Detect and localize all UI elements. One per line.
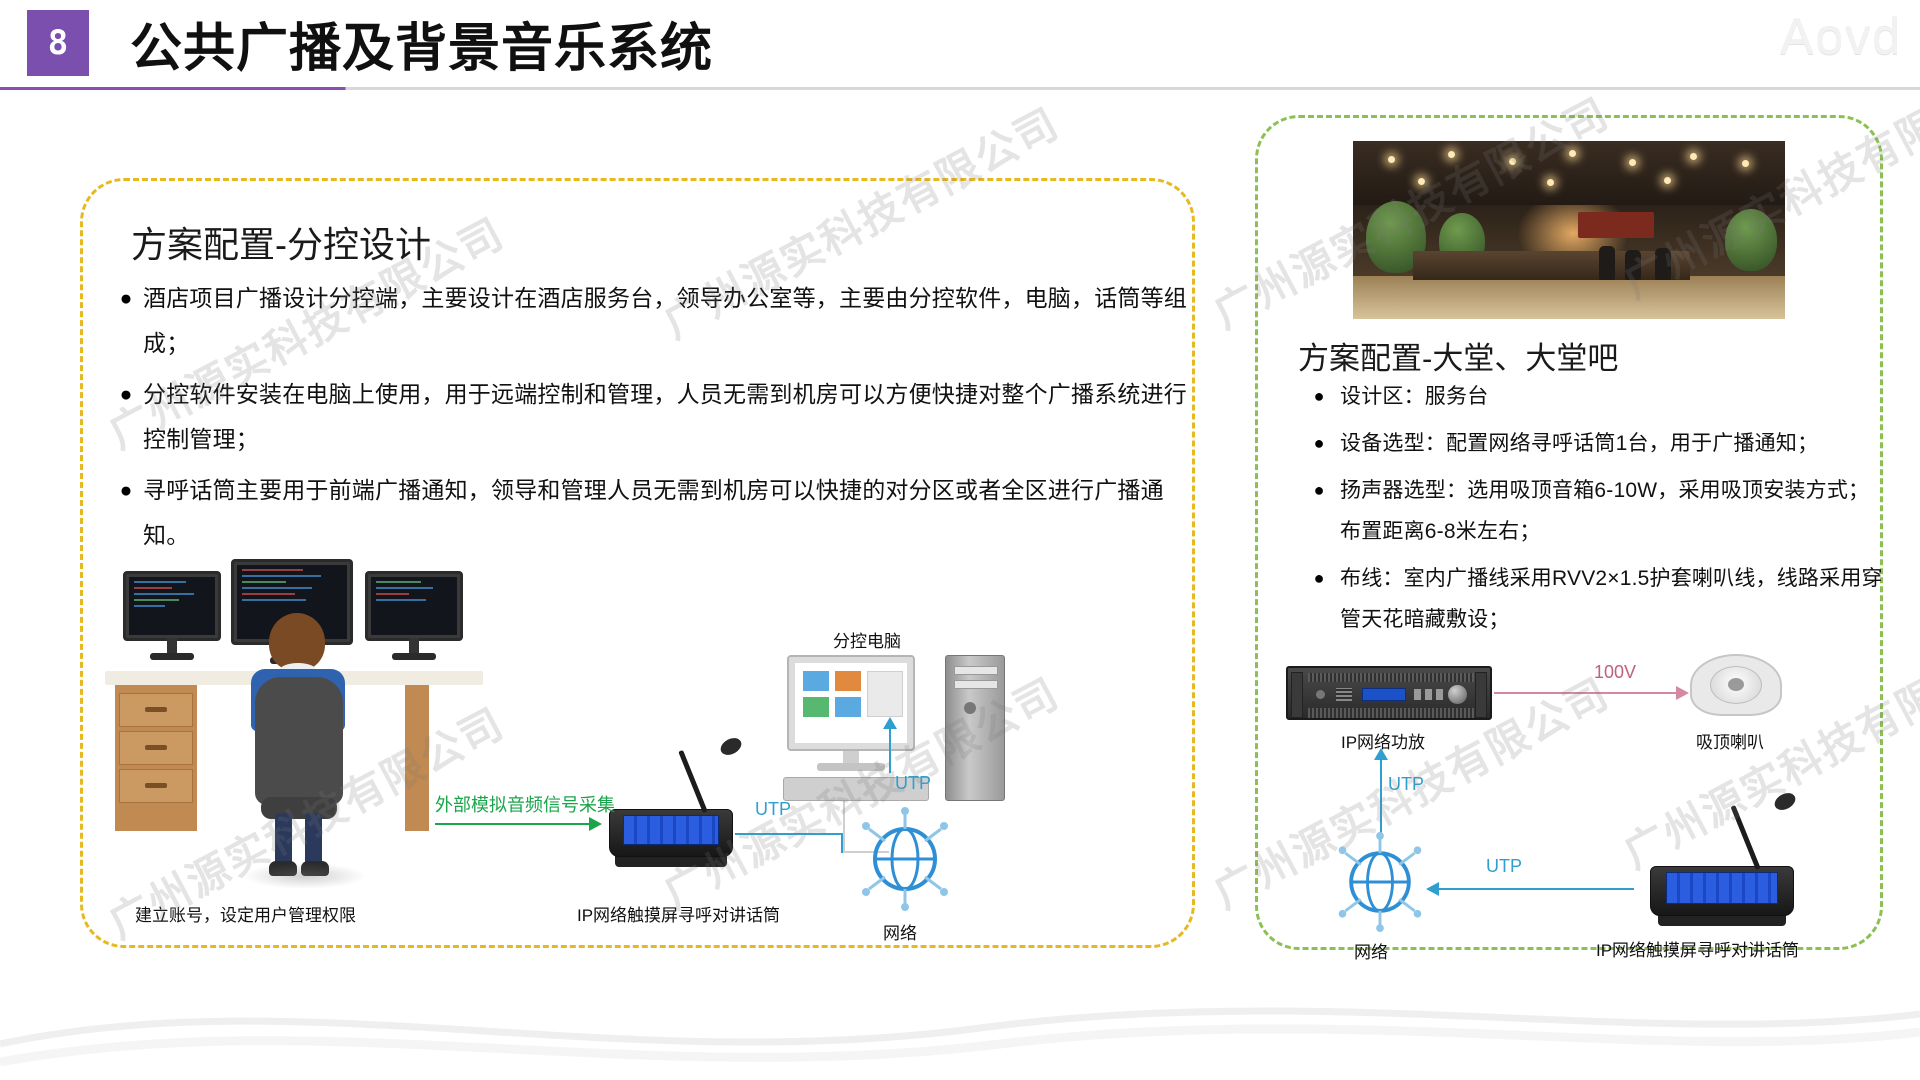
mic-gooseneck xyxy=(1731,805,1761,870)
amp-volume-knob xyxy=(1448,685,1467,704)
list-item-text: 扬声器选型：选用吸顶音箱6-10W，采用吸顶安装方式；布置距离6-8米左右； xyxy=(1340,470,1883,552)
office-chair-seat xyxy=(261,797,337,819)
footer-swoosh-decoration xyxy=(0,970,1920,1080)
list-item: ● 寻呼话筒主要用于前端广播通知，领导和管理人员无需到机房可以快捷的对分区或者全… xyxy=(109,468,1189,558)
header-divider xyxy=(0,87,1920,90)
office-chair-back xyxy=(255,677,343,805)
network-caption: 网络 xyxy=(883,919,917,944)
monitor-stand xyxy=(409,638,419,654)
list-item-text: 设计区：服务台 xyxy=(1340,376,1488,417)
desk-drawer-handle xyxy=(145,783,167,788)
person-leg xyxy=(275,813,292,865)
list-item: ● 酒店项目广播设计分控端，主要设计在酒店服务台，领导办公室等，主要由分控软件，… xyxy=(109,276,1189,366)
list-item: ● 分控软件安装在电脑上使用，用于远端控制和管理，人员无需到机房可以方便快捷对整… xyxy=(109,372,1189,462)
utp-label-mic: UTP xyxy=(755,799,791,820)
amp-vent-grill xyxy=(1308,708,1474,718)
lobby-photo xyxy=(1353,141,1785,319)
monitor-base xyxy=(150,653,194,660)
slide-number-badge: 8 xyxy=(27,10,89,76)
lobby-plant xyxy=(1725,209,1777,271)
mic-caption: IP网络触摸屏寻呼对讲话筒 xyxy=(577,901,780,926)
bullet-dot-icon: ● xyxy=(109,276,143,321)
desk-drawer-handle xyxy=(145,745,167,750)
lobby-person xyxy=(1625,250,1641,280)
monitor-left xyxy=(123,571,221,641)
monitor-stand xyxy=(167,638,177,654)
left-panel-bullet-list: ● 酒店项目广播设计分控端，主要设计在酒店服务台，领导办公室等，主要由分控软件，… xyxy=(109,276,1189,564)
left-panel: 方案配置-分控设计 ● 酒店项目广播设计分控端，主要设计在酒店服务台，领导办公室… xyxy=(80,178,1195,948)
slide-number-text: 8 xyxy=(48,23,68,63)
amp-rack-ear xyxy=(1291,672,1303,718)
monitor-base xyxy=(392,653,436,660)
desk-drawer-handle xyxy=(145,707,167,712)
lobby-person xyxy=(1599,246,1615,280)
ceiling-speaker-dome xyxy=(1728,678,1744,691)
slide-root: 8 公共广播及背景音乐系统 Aovd 方案配置-分控设计 ● 酒店项目广播设计分… xyxy=(0,0,1920,1080)
left-diagram: 建立账号，设定用户管理权限 IP网络触摸屏寻呼对讲话筒 外部模拟音频信号采集 分… xyxy=(83,551,1192,951)
bullet-dot-icon: ● xyxy=(1298,423,1340,464)
workstation-caption: 建立账号，设定用户管理权限 xyxy=(135,901,356,926)
list-item: ● 扬声器选型：选用吸顶音箱6-10W，采用吸顶安装方式；布置距离6-8米左右； xyxy=(1298,470,1883,552)
mic-gooseneck xyxy=(678,750,707,813)
desk-right-leg xyxy=(405,685,429,831)
mic-capsule-icon xyxy=(718,735,744,759)
voltage-label: 100V xyxy=(1594,662,1636,683)
network-globe-icon xyxy=(1330,832,1430,932)
brand-logo: Aovd xyxy=(1780,8,1902,66)
left-panel-title: 方案配置-分控设计 xyxy=(131,216,431,268)
right-panel-title: 方案配置-大堂、大堂吧 xyxy=(1298,333,1618,378)
lobby-sign xyxy=(1578,212,1654,238)
utp-arrow-head-up xyxy=(883,717,897,729)
list-item-text: 酒店项目广播设计分控端，主要设计在酒店服务台，领导办公室等，主要由分控软件，电脑… xyxy=(143,276,1189,366)
page-title: 公共广播及背景音乐系统 xyxy=(130,6,713,81)
lobby-photo-art xyxy=(1353,141,1785,319)
lobby-ceiling xyxy=(1353,141,1785,205)
utp-label-mic-right: UTP xyxy=(1486,856,1522,877)
monitor-right xyxy=(365,571,463,641)
voltage-arrow-head xyxy=(1676,686,1689,700)
list-item: ● 布线：室内广播线采用RVV2×1.5护套喇叭线，线路采用穿管天花暗藏敷设； xyxy=(1298,558,1883,640)
ip-network-amplifier xyxy=(1286,666,1492,720)
list-item-text: 分控软件安装在电脑上使用，用于远端控制和管理，人员无需到机房可以方便快捷对整个广… xyxy=(143,372,1189,462)
mic-console-screen xyxy=(1666,872,1778,904)
mic-console-screen xyxy=(623,815,719,845)
utp-label-amp: UTP xyxy=(1388,774,1424,795)
bullet-dot-icon: ● xyxy=(109,468,143,513)
pc-tower xyxy=(945,655,1005,801)
mic-caption-right: IP网络触摸屏寻呼对讲话筒 xyxy=(1596,936,1799,961)
amp-vent-grill xyxy=(1308,673,1474,682)
utp-mic-line xyxy=(735,833,843,835)
amp-utp-arrow-head xyxy=(1374,748,1388,760)
amp-rack-ear xyxy=(1475,672,1487,718)
control-pc-caption: 分控电脑 xyxy=(833,627,901,652)
list-item-text: 寻呼话筒主要用于前端广播通知，领导和管理人员无需到机房可以快捷的对分区或者全区进… xyxy=(143,468,1189,558)
utp-riser-line xyxy=(841,833,843,853)
lobby-floor xyxy=(1353,276,1785,319)
list-item: ● 设备选型：配置网络寻呼话筒1台，用于广播通知； xyxy=(1298,423,1883,464)
network-globe-icon xyxy=(853,807,957,911)
voltage-arrow-line xyxy=(1494,692,1676,694)
mic-utp-line xyxy=(1438,888,1634,890)
monitor-screen xyxy=(129,577,215,635)
lobby-reception-counter xyxy=(1413,251,1689,279)
pc-to-utp-connector xyxy=(843,801,845,851)
bullet-dot-icon: ● xyxy=(1298,558,1340,599)
speaker-caption: 吸顶喇叭 xyxy=(1696,728,1764,753)
bullet-dot-icon: ● xyxy=(1298,470,1340,511)
right-panel-bullet-list: ● 设计区：服务台 ● 设备选型：配置网络寻呼话筒1台，用于广播通知； ● 扬声… xyxy=(1298,376,1883,646)
amp-display xyxy=(1362,688,1406,701)
utp-label-pc: UTP xyxy=(895,773,931,794)
mic-utp-arrow-head xyxy=(1426,882,1439,896)
audio-capture-arrow-line xyxy=(435,823,589,825)
list-item-text: 设备选型：配置网络寻呼话筒1台，用于广播通知； xyxy=(1340,423,1818,464)
bullet-dot-icon: ● xyxy=(109,372,143,417)
pc-drive-bay xyxy=(954,680,998,689)
network-caption: 网络 xyxy=(1354,938,1388,963)
list-item: ● 设计区：服务台 xyxy=(1298,376,1883,417)
pc-monitor-base xyxy=(817,763,885,771)
audio-capture-label: 外部模拟音频信号采集 xyxy=(435,791,615,817)
person-shadow xyxy=(243,863,367,889)
list-item-text: 布线：室内广播线采用RVV2×1.5护套喇叭线，线路采用穿管天花暗藏敷设； xyxy=(1340,558,1883,640)
right-diagram: IP网络功放 100V 吸顶喇叭 UTP xyxy=(1258,648,1884,948)
pc-monitor-frame xyxy=(787,655,915,751)
slide-header: 8 公共广播及背景音乐系统 Aovd xyxy=(0,0,1920,92)
mic-capsule-icon xyxy=(1772,790,1798,814)
utp-arrow-down xyxy=(889,727,891,773)
pc-drive-bay xyxy=(954,666,998,675)
right-panel: 方案配置-大堂、大堂吧 ● 设计区：服务台 ● 设备选型：配置网络寻呼话筒1台，… xyxy=(1255,115,1883,950)
amp-utp-line xyxy=(1380,758,1382,836)
lobby-person xyxy=(1655,248,1671,280)
audio-capture-arrow-head xyxy=(589,817,602,831)
monitor-screen xyxy=(371,577,457,635)
bullet-dot-icon: ● xyxy=(1298,376,1340,417)
person-leg xyxy=(305,813,322,865)
